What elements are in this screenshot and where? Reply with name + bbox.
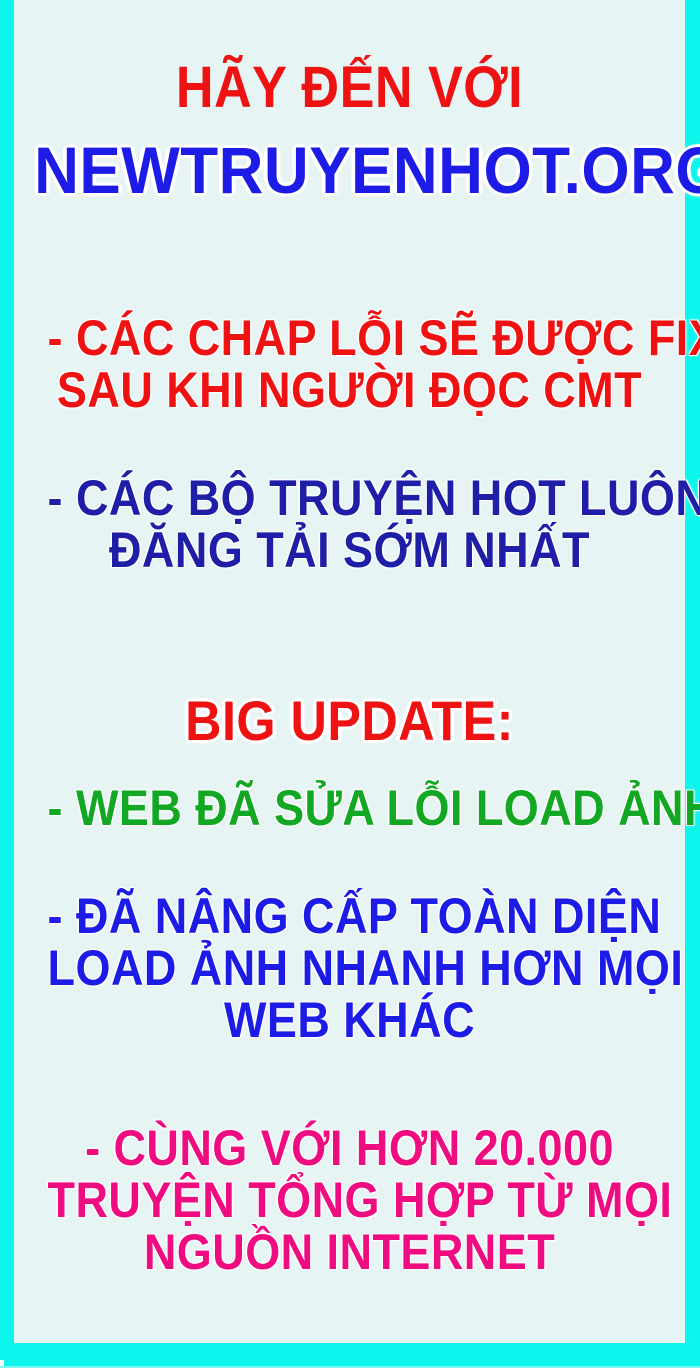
big-update-title: BIG UPDATE: <box>48 692 652 750</box>
update-image-load-fix-text: - WEB ĐÃ SỬA LỖI LOAD ẢNH <box>48 782 652 834</box>
notice-chapter-fix-text: - CÁC CHAP LỖI SẼ ĐƯỢC FIX SAU KHI NGƯỜI… <box>48 312 652 416</box>
update-story-count-text: - CÙNG VỚI HƠN 20.000 TRUYỆN TỔNG HỢP TỪ… <box>48 1122 652 1278</box>
site-name-text[interactable]: NEWTRUYENHOT.ORG <box>34 136 665 205</box>
headline-text: HÃY ĐẾN VỚI <box>48 58 652 118</box>
promo-banner: HÃY ĐẾN VỚI NEWTRUYENHOT.ORG - CÁC CHAP … <box>0 0 700 1368</box>
update-full-upgrade-text: - ĐÃ NÂNG CẤP TOÀN DIỆN LOAD ẢNH NHANH H… <box>48 890 652 1046</box>
notice-hot-series-text: - CÁC BỘ TRUYỆN HOT LUÔN ĐĂNG TẢI SỚM NH… <box>48 472 652 576</box>
bottom-left-nub <box>0 1360 4 1366</box>
